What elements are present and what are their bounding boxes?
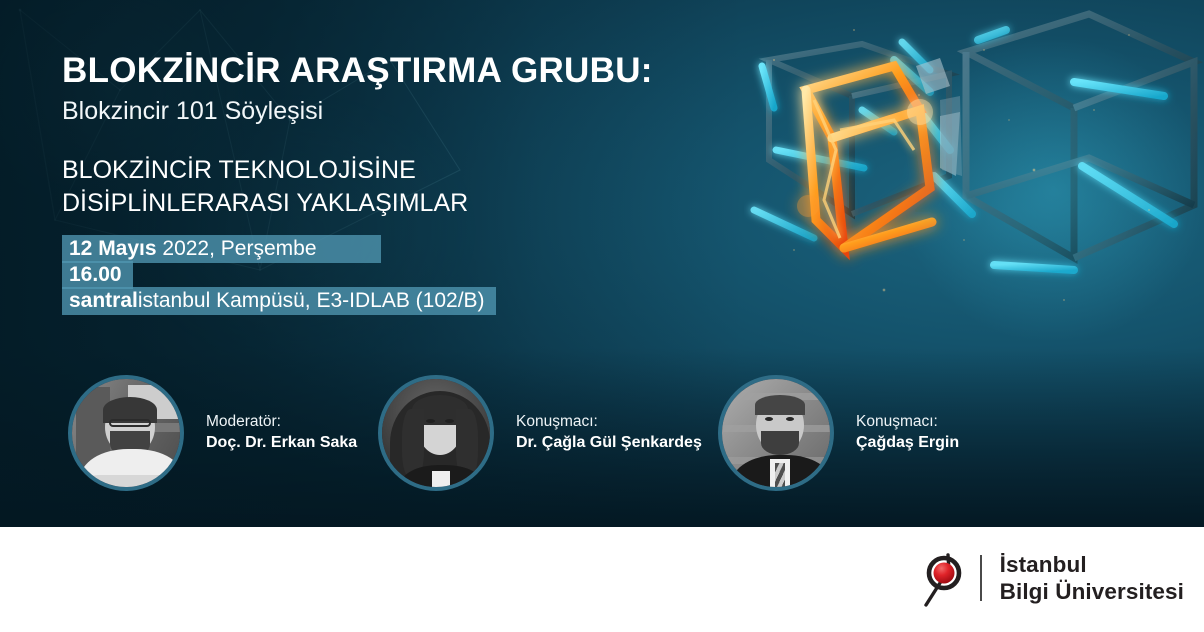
page-subtitle: Blokzincir 101 Söyleşisi (62, 97, 782, 127)
speaker-name: Çağdaş Ergin (856, 433, 959, 453)
headline-block: BLOKZİNCİR ARAŞTIRMA GRUBU: Blokzincir 1… (62, 52, 782, 220)
avatar (378, 375, 494, 491)
avatar (68, 375, 184, 491)
topic-line-2: DİSİPLİNLERARASI YAKLAŞIMLAR (62, 187, 782, 220)
event-details-block: 12 Mayıs 2022, Perşembe 16.00 santralist… (62, 236, 496, 314)
speaker-card-moderator: Moderatör: Doç. Dr. Erkan Saka (68, 372, 357, 494)
event-date-row: 12 Mayıs 2022, Perşembe (62, 236, 496, 262)
speaker-text: Moderatör: Doç. Dr. Erkan Saka (206, 412, 357, 453)
speaker-text: Konuşmacı: Çağdaş Ergin (856, 412, 959, 453)
logo-wordmark: İstanbul Bilgi Üniversitesi (1000, 551, 1184, 606)
speaker-card-2: Konuşmacı: Çağdaş Ergin (718, 372, 959, 494)
speaker-role: Konuşmacı: (516, 412, 702, 432)
portrait-erkan-saka (72, 379, 180, 487)
logo-line-1: İstanbul (1000, 551, 1184, 578)
speaker-text: Konuşmacı: Dr. Çağla Gül Şenkardeş (516, 412, 702, 453)
speakers-row: Moderatör: Doç. Dr. Erkan Saka (0, 372, 1204, 497)
event-time: 16.00 (69, 263, 122, 286)
speaker-name: Doç. Dr. Erkan Saka (206, 433, 357, 453)
bilgi-pin-logo-icon (918, 549, 968, 607)
logo-line-2: Bilgi Üniversitesi (1000, 578, 1184, 605)
speaker-name: Dr. Çağla Gül Şenkardeş (516, 433, 702, 453)
speaker-card-1: Konuşmacı: Dr. Çağla Gül Şenkardeş (378, 372, 702, 494)
portrait-cagdas-ergin (722, 379, 830, 487)
event-venue-row: santralistanbul Kampüsü, E3-IDLAB (102/B… (62, 288, 496, 314)
university-logo: İstanbul Bilgi Üniversitesi (918, 547, 1184, 609)
portrait-cagla-gul-senkardes (382, 379, 490, 487)
topic-block: BLOKZİNCİR TEKNOLOJİSİNE DİSİPLİNLERARAS… (62, 154, 782, 220)
speaker-role: Moderatör: (206, 412, 357, 432)
event-poster: BLOKZİNCİR ARAŞTIRMA GRUBU: Blokzincir 1… (0, 0, 1204, 632)
event-venue-strong: santral (69, 289, 138, 312)
footer-bar: İstanbul Bilgi Üniversitesi (0, 527, 1204, 632)
event-venue-rest: istanbul Kampüsü, E3-IDLAB (102/B) (138, 289, 485, 312)
topic-line-1: BLOKZİNCİR TEKNOLOJİSİNE (62, 154, 782, 187)
avatar (718, 375, 834, 491)
event-date-strong: 12 Mayıs (69, 237, 157, 260)
page-title: BLOKZİNCİR ARAŞTIRMA GRUBU: (62, 52, 782, 90)
event-time-row: 16.00 (62, 262, 496, 288)
speaker-role: Konuşmacı: (856, 412, 959, 432)
logo-divider (980, 555, 982, 601)
hero-artwork-panel: BLOKZİNCİR ARAŞTIRMA GRUBU: Blokzincir 1… (0, 0, 1204, 527)
event-date-rest: 2022, Perşembe (157, 237, 317, 260)
